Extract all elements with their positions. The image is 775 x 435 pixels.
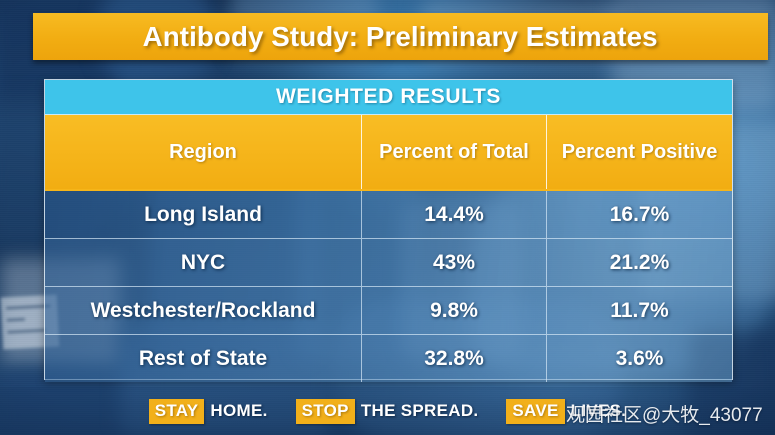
psa-item-stay-home: STAY HOME. [149, 399, 268, 424]
table-row: Westchester/Rockland 9.8% 11.7% [45, 287, 732, 335]
table-header-row: Region Percent of Total Percent Positive [45, 115, 732, 191]
cell-percent-of-total: 9.8% [361, 287, 546, 334]
column-header-percent-of-total: Percent of Total [361, 115, 546, 189]
column-header-region: Region [45, 115, 361, 189]
column-header-percent-positive: Percent Positive [546, 115, 732, 189]
psa-item-save-lives: SAVE LIVES. [506, 399, 626, 424]
cell-percent-of-total: 14.4% [361, 191, 546, 238]
cell-percent-of-total: 32.8% [361, 335, 546, 382]
table-band: WEIGHTED RESULTS [45, 80, 732, 115]
psa-highlight: STOP [296, 399, 355, 424]
cell-region: Long Island [45, 191, 361, 238]
cell-region: NYC [45, 239, 361, 286]
cell-percent-positive: 21.2% [546, 239, 732, 286]
cell-region: Westchester/Rockland [45, 287, 361, 334]
table-row: Rest of State 32.8% 3.6% [45, 335, 732, 382]
page-title: Antibody Study: Preliminary Estimates [143, 21, 658, 53]
cell-percent-positive: 16.7% [546, 191, 732, 238]
psa-highlight: STAY [149, 399, 205, 424]
cell-percent-positive: 3.6% [546, 335, 732, 382]
broadcast-graphic: Antibody Study: Preliminary Estimates WE… [0, 0, 775, 435]
cell-percent-of-total: 43% [361, 239, 546, 286]
psa-highlight: SAVE [506, 399, 564, 424]
table-band-label: WEIGHTED RESULTS [276, 85, 501, 109]
psa-item-stop-the-spread: STOP THE SPREAD. [296, 399, 479, 424]
results-table: WEIGHTED RESULTS Region Percent of Total… [44, 79, 733, 380]
table-row: NYC 43% 21.2% [45, 239, 732, 287]
cell-percent-positive: 11.7% [546, 287, 732, 334]
table-row: Long Island 14.4% 16.7% [45, 191, 732, 239]
psa-text: THE SPREAD. [361, 401, 479, 421]
psa-banner: STAY HOME. STOP THE SPREAD. SAVE LIVES. [0, 387, 775, 435]
title-banner: Antibody Study: Preliminary Estimates [33, 13, 768, 60]
psa-text: HOME. [210, 401, 267, 421]
cell-region: Rest of State [45, 335, 361, 382]
psa-text: LIVES. [571, 401, 627, 421]
